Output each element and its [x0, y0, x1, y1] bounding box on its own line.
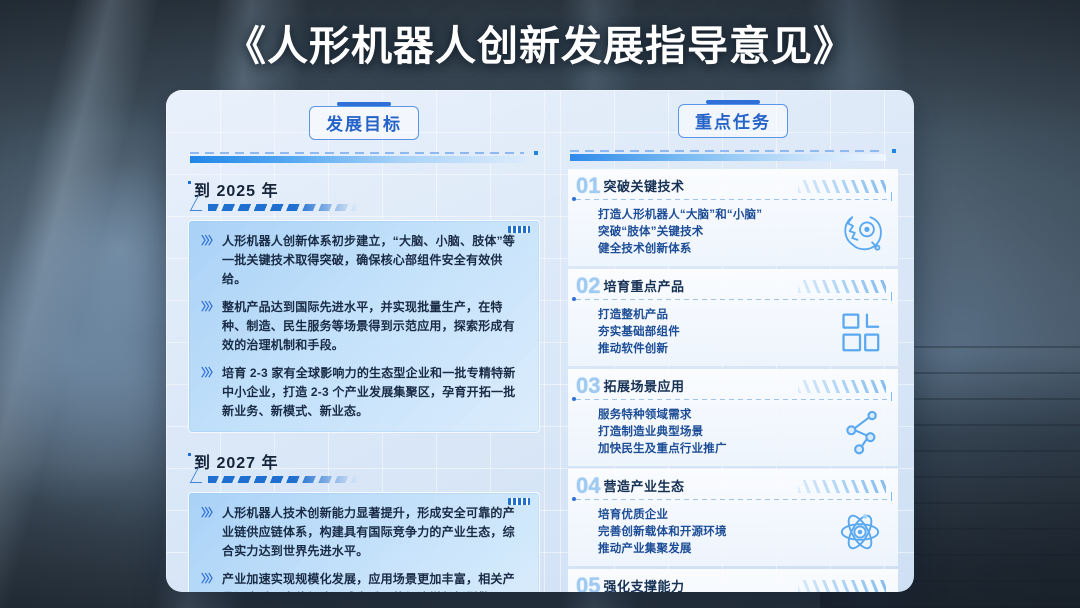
chevron-bullet-icon: 〉〉〉 [201, 298, 217, 355]
right-badge-wrap: 重点任务 [568, 104, 898, 138]
left-badge-wrap: 发展目标 [188, 106, 540, 140]
rule-dashes [190, 152, 524, 154]
chevron-bullet-icon: 〉〉〉 [201, 570, 217, 592]
goals-block-2025: 〉〉〉 人形机器人创新体系初步建立，“大脑、小脑、肢体”等一批关键技术取得突破，… [188, 220, 540, 433]
task-line: 加快民生及重点行业推广 [598, 441, 727, 458]
rule-gradient-bar [570, 154, 886, 161]
chevron-decor-icon [798, 180, 886, 193]
task-number: 02 [576, 276, 600, 296]
list-item: 〉〉〉 人形机器人技术创新能力显著提升，形成安全可靠的产业链供应链体系，构建具有… [201, 504, 526, 561]
task-title: 拓展场景应用 [603, 376, 684, 396]
chevron-bullet-icon: 〉〉〉 [201, 232, 217, 289]
key-tasks-badge: 重点任务 [678, 104, 788, 138]
task-line: 夯实基础部组件 [598, 324, 680, 341]
task-line: 突破“肢体”关键技术 [598, 224, 762, 241]
infographic-card: 发展目标 到 2025 年 〉〉〉 人形机器人创新体系初步建立，“大脑、小脑、肢… [166, 90, 914, 592]
chevron-decor-icon [798, 580, 886, 592]
bullet-text: 人形机器人创新体系初步建立，“大脑、小脑、肢体”等一批关键技术取得突破，确保核心… [222, 232, 526, 289]
bullet-text: 整机产品达到国际先进水平，并实现批量生产，在特种、制造、民生服务等场景得到示范应… [222, 298, 526, 355]
bullet-text: 产业加速实现规模化发展，应用场景更加丰富，相关产品深度融入实体经济，成为重要的经… [222, 570, 526, 592]
bullet-text: 培育 2-3 家有全球影响力的生态型企业和一批专精特新中小企业，打造 2-3 个… [222, 364, 526, 421]
task-head-rule [576, 399, 890, 400]
blocks-icon [832, 306, 888, 358]
atom-icon [832, 506, 888, 558]
task-number: 05 [576, 576, 600, 592]
task-header: 05 强化支撑能力 [576, 574, 890, 592]
task-body: 打造人形机器人“大脑”和“小脑” 突破“肢体”关键技术 健全技术创新体系 [576, 200, 890, 258]
left-divider-rule [190, 152, 538, 161]
task-title: 突破关键技术 [603, 176, 684, 196]
task-header: 01 突破关键技术 [576, 174, 890, 196]
chevron-decor-icon [798, 280, 886, 293]
page-title: 《人形机器人创新发展指导意见》 [0, 12, 1080, 72]
list-item: 〉〉〉 人形机器人创新体系初步建立，“大脑、小脑、肢体”等一批关键技术取得突破，… [201, 232, 526, 289]
task-list: 01 突破关键技术 打造人形机器人“大脑”和“小脑” 突破“肢体”关键技术 健全… [568, 169, 898, 592]
year-tick-icon [188, 181, 191, 184]
task-lines: 服务特种领域需求 打造制造业典型场景 加快民生及重点行业推广 [598, 407, 727, 458]
task-header: 04 营造产业生态 [576, 474, 890, 496]
task-line: 打造人形机器人“大脑”和“小脑” [598, 207, 762, 224]
chevron-decor-icon [798, 480, 886, 493]
chevron-bullet-icon: 〉〉〉 [201, 364, 217, 421]
development-goals-badge: 发展目标 [309, 106, 419, 140]
task-line: 培育优质企业 [598, 507, 727, 524]
right-divider-rule [570, 150, 896, 159]
list-item: 〉〉〉 培育 2-3 家有全球影响力的生态型企业和一批专精特新中小企业，打造 2… [201, 364, 526, 421]
list-item: 〉〉〉 整机产品达到国际先进水平，并实现批量生产，在特种、制造、民生服务等场景得… [201, 298, 526, 355]
task-line: 服务特种领域需求 [598, 407, 727, 424]
rule-end-dot [892, 149, 896, 153]
goals-block-2027: 〉〉〉 人形机器人技术创新能力显著提升，形成安全可靠的产业链供应链体系，构建具有… [188, 492, 540, 592]
task-head-rule [576, 499, 890, 500]
year-label-2027: 到 2027 年 [194, 449, 540, 483]
task-line: 健全技术创新体系 [598, 241, 762, 258]
task-lines: 打造整机产品 夯实基础部组件 推动软件创新 [598, 307, 680, 358]
network-nodes-icon [832, 406, 888, 458]
bullet-text: 人形机器人技术创新能力显著提升，形成安全可靠的产业链供应链体系，构建具有国际竞争… [222, 504, 526, 561]
task-number: 03 [576, 376, 600, 396]
key-tasks-panel: 重点任务 01 突破关键技术 打造人形机器人“大脑”和“小脑” 突破“肢体”关键 [560, 90, 914, 592]
task-number: 01 [576, 176, 600, 196]
task-line: 推动软件创新 [598, 341, 680, 358]
task-body: 培育优质企业 完善创新载体和开源环境 推动产业集聚发展 [576, 500, 890, 558]
task-line: 打造整机产品 [598, 307, 680, 324]
task-head-rule [576, 199, 890, 200]
task-lines: 打造人形机器人“大脑”和“小脑” 突破“肢体”关键技术 健全技术创新体系 [598, 207, 762, 258]
task-line: 推动产业集聚发展 [598, 541, 727, 558]
task-head-rule [576, 299, 890, 300]
chevron-bullet-icon: 〉〉〉 [201, 504, 217, 561]
task-header: 03 拓展场景应用 [576, 374, 890, 396]
year-slash-decor [208, 476, 358, 483]
task-title: 强化支撑能力 [603, 576, 684, 592]
task-title: 培育重点产品 [603, 276, 684, 296]
year-slash-decor [208, 204, 358, 211]
rule-end-dot [534, 151, 538, 155]
development-goals-panel: 发展目标 到 2025 年 〉〉〉 人形机器人创新体系初步建立，“大脑、小脑、肢… [166, 90, 560, 592]
year-label-2025: 到 2025 年 [194, 177, 540, 211]
robot-head-icon [832, 206, 888, 258]
rule-dashes [570, 150, 882, 152]
task-lines: 培育优质企业 完善创新载体和开源环境 推动产业集聚发展 [598, 507, 727, 558]
task-number: 04 [576, 476, 600, 496]
task-item-05: 05 强化支撑能力 健全产业标准体系 提升检验检测和中试验证能力 加强安全治理能… [568, 569, 898, 592]
task-item-01: 01 突破关键技术 打造人形机器人“大脑”和“小脑” 突破“肢体”关键技术 健全… [568, 169, 898, 266]
task-item-04: 04 营造产业生态 培育优质企业 完善创新载体和开源环境 推动产业集聚发展 [568, 469, 898, 566]
year-text: 到 2025 年 [194, 177, 540, 201]
task-item-02: 02 培育重点产品 打造整机产品 夯实基础部组件 推动软件创新 [568, 269, 898, 366]
chevron-decor-icon [798, 380, 886, 393]
task-body: 打造整机产品 夯实基础部组件 推动软件创新 [576, 300, 890, 358]
task-body: 服务特种领域需求 打造制造业典型场景 加快民生及重点行业推广 [576, 400, 890, 458]
task-line: 完善创新载体和开源环境 [598, 524, 727, 541]
rule-gradient-bar [190, 156, 528, 163]
task-item-03: 03 拓展场景应用 服务特种领域需求 打造制造业典型场景 加快民生及重点行业推广 [568, 369, 898, 466]
year-tick-icon [188, 453, 191, 456]
list-item: 〉〉〉 产业加速实现规模化发展，应用场景更加丰富，相关产品深度融入实体经济，成为… [201, 570, 526, 592]
task-header: 02 培育重点产品 [576, 274, 890, 296]
task-line: 打造制造业典型场景 [598, 424, 727, 441]
year-text: 到 2027 年 [194, 449, 540, 473]
task-title: 营造产业生态 [603, 476, 684, 496]
